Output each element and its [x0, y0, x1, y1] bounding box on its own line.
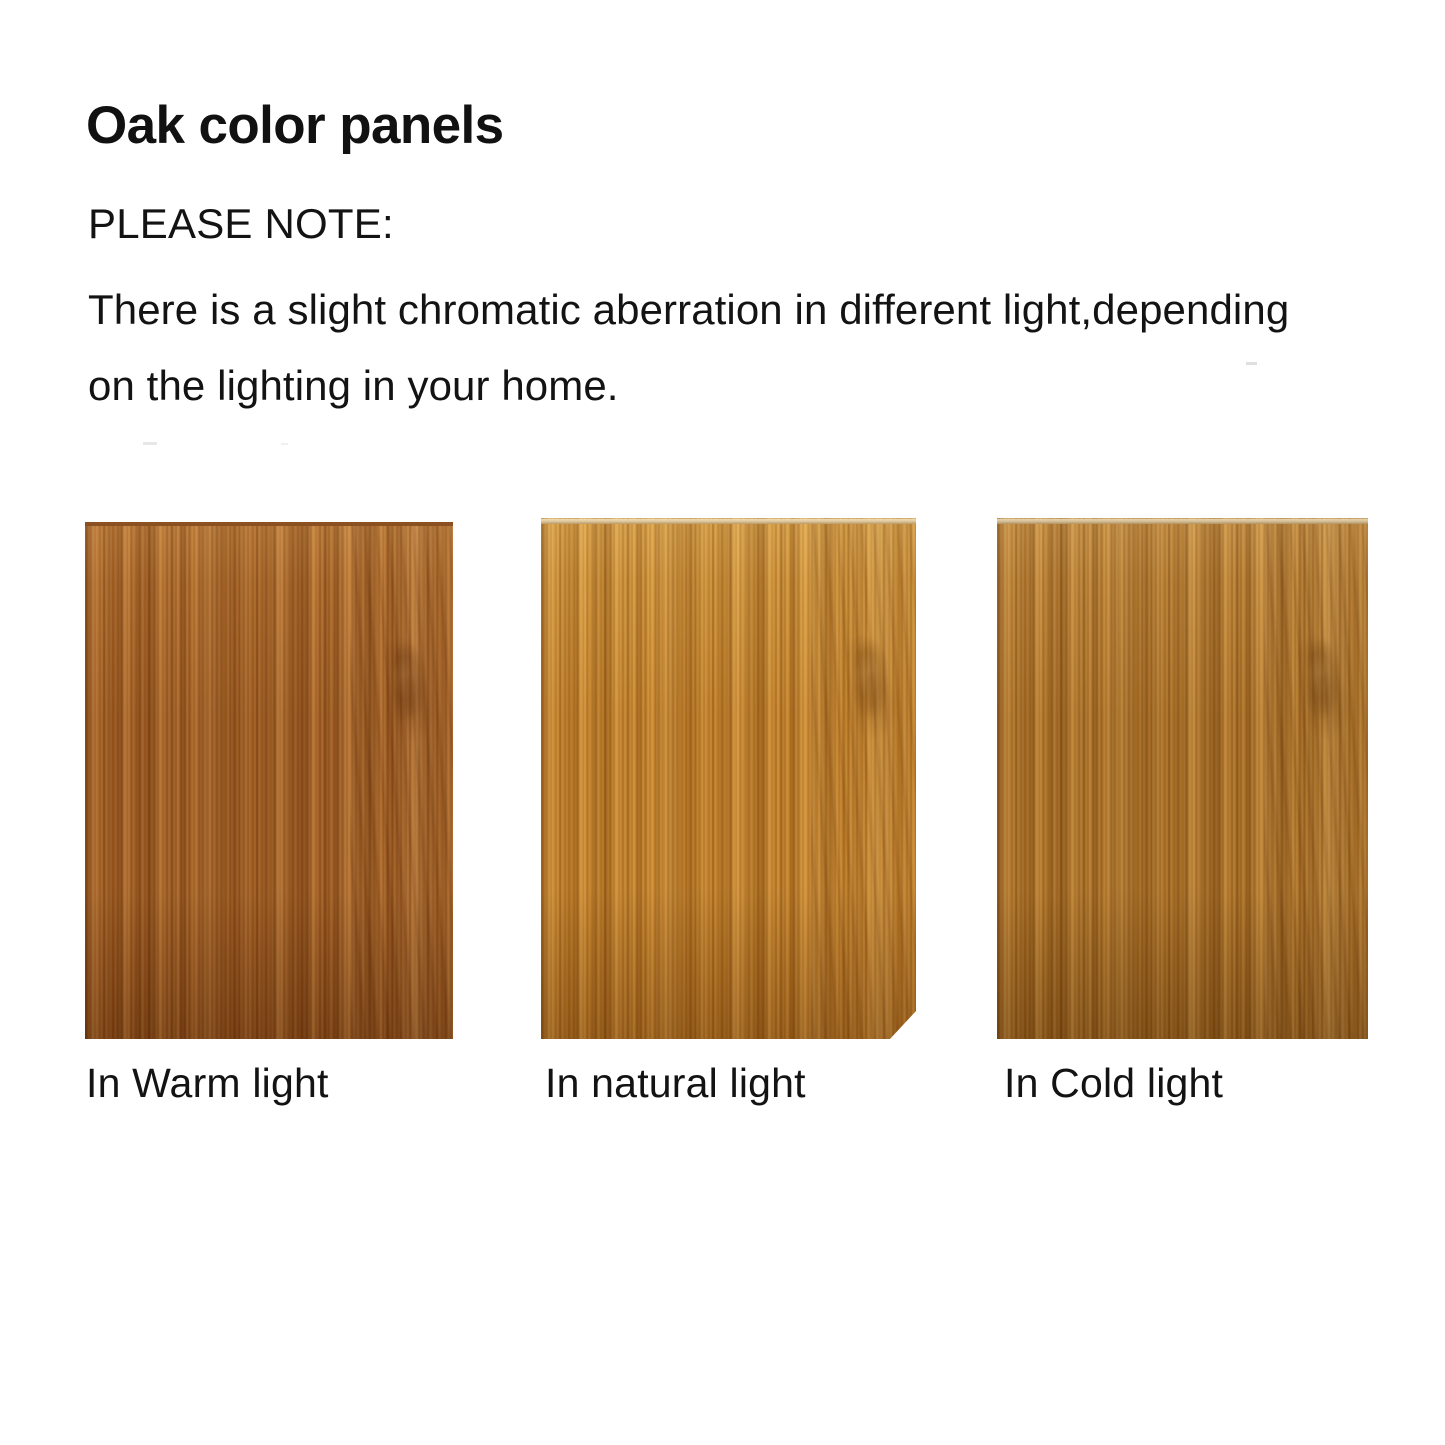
page-title: Oak color panels — [86, 98, 504, 154]
panel-swatch — [541, 518, 916, 1039]
please-note-label: PLEASE NOTE: — [88, 203, 394, 245]
page-canvas: Oak color panels PLEASE NOTE: There is a… — [0, 0, 1445, 1445]
note-body-line-2: on the lighting in your home. — [88, 348, 1338, 424]
panel-caption-cold: In Cold light — [1004, 1063, 1223, 1104]
panel-caption-warm: In Warm light — [86, 1063, 329, 1104]
wood-color-tint — [85, 522, 453, 1039]
panel-sample-cold[interactable] — [997, 518, 1368, 1039]
panel-caption-natural: In natural light — [545, 1063, 806, 1104]
scan-speck — [143, 442, 157, 445]
panel-swatch — [997, 518, 1368, 1039]
panel-swatch — [85, 522, 453, 1039]
note-body-line-1: There is a slight chromatic aberration i… — [88, 272, 1338, 348]
scan-speck — [281, 443, 288, 445]
panel-sample-warm[interactable] — [85, 522, 453, 1039]
note-body: There is a slight chromatic aberration i… — [88, 272, 1338, 424]
wood-color-tint — [541, 518, 916, 1039]
wood-color-tint — [997, 518, 1368, 1039]
panel-sample-natural[interactable] — [541, 518, 916, 1039]
scan-speck — [1246, 362, 1257, 365]
